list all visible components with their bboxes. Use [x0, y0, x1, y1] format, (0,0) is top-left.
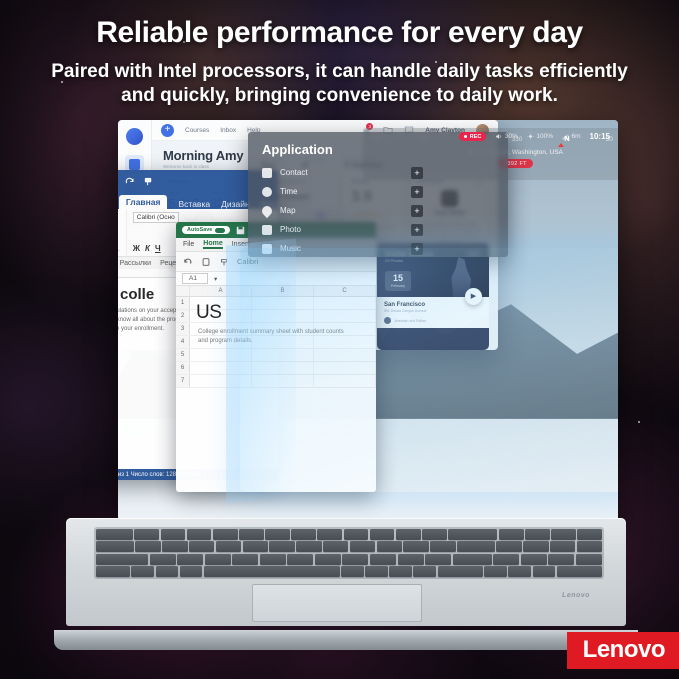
- brightness-value: 100%: [536, 133, 553, 140]
- laptop-base: Lenovo: [48, 518, 644, 650]
- event-date: 15 February: [385, 271, 411, 292]
- word-clipboard-group[interactable]: Вставить Буфер обм...: [118, 209, 127, 256]
- cell[interactable]: [252, 297, 314, 309]
- cell[interactable]: [190, 362, 252, 374]
- guitar-basics-card[interactable]: Guitar Basics 25 Photos Edit 15 February…: [377, 243, 489, 350]
- signal-value: 6m: [572, 133, 581, 140]
- add-button[interactable]: +: [411, 205, 423, 217]
- name-box[interactable]: A1: [182, 273, 208, 284]
- brightness-indicator[interactable]: 100%: [527, 133, 553, 140]
- toggle-switch-icon[interactable]: [215, 228, 225, 233]
- avatar: [384, 317, 391, 324]
- headline-block: Reliable performance for every day Paire…: [0, 16, 679, 109]
- cell[interactable]: [190, 375, 252, 387]
- record-badge: REC: [459, 132, 486, 141]
- app-item-label: Time: [280, 187, 297, 196]
- italic-button[interactable]: К: [145, 244, 150, 253]
- map-pin-icon: [260, 203, 274, 217]
- add-button[interactable]: +: [411, 186, 423, 198]
- cell[interactable]: [314, 349, 376, 361]
- play-button[interactable]: ▶: [465, 288, 482, 305]
- table-row[interactable]: 5: [176, 349, 376, 362]
- app-item-label: Map: [280, 206, 296, 215]
- application-panel[interactable]: Application Contact + Time + Map + Photo…: [248, 132, 508, 257]
- attendee-names: Jeremiah and Esther: [394, 319, 426, 323]
- grid-corner: [176, 286, 190, 296]
- app-item-photo[interactable]: Photo +: [248, 220, 508, 239]
- excel-tab-file[interactable]: File: [183, 241, 194, 248]
- event-address: 891 Delata Canyon Avenue: [384, 309, 482, 313]
- photo-icon: [262, 225, 272, 235]
- add-button[interactable]: +: [411, 224, 423, 236]
- excel-font-name[interactable]: Calibri: [237, 257, 258, 266]
- row-number: 7: [176, 375, 190, 387]
- excel-formula-bar[interactable]: A1 ▾: [176, 272, 376, 286]
- paste-icon[interactable]: [201, 257, 211, 267]
- excel-tab-home[interactable]: Home: [203, 240, 222, 249]
- brightness-icon: [527, 133, 534, 140]
- row-number: 5: [176, 349, 190, 361]
- signal-icon: [562, 133, 569, 140]
- event-month: February: [391, 284, 405, 288]
- cell[interactable]: [252, 349, 314, 361]
- course-subtitle: 25 Photos: [385, 258, 403, 263]
- cell[interactable]: [190, 349, 252, 361]
- app-item-time[interactable]: Time +: [248, 182, 508, 201]
- add-button[interactable]: +: [411, 243, 423, 255]
- column-header[interactable]: B: [252, 286, 314, 296]
- laptop: REC 30% 100% 6m 10:15 20 NW 300 330: [48, 120, 644, 650]
- row-number: 4: [176, 336, 190, 348]
- nav-link-inbox[interactable]: Inbox: [220, 127, 236, 134]
- cell[interactable]: [314, 375, 376, 387]
- column-header[interactable]: A: [190, 286, 252, 296]
- paste-label: Вставить: [118, 235, 120, 242]
- underline-button[interactable]: Ч: [155, 244, 161, 253]
- page-title: Morning Amy: [163, 148, 243, 163]
- word-tab-mailings[interactable]: Рассылки: [120, 260, 151, 267]
- app-item-music[interactable]: Music +: [248, 239, 508, 257]
- record-label: REC: [470, 134, 482, 140]
- spreadsheet-title: US: [196, 302, 221, 324]
- music-note-icon: [262, 244, 272, 254]
- row-number: 3: [176, 323, 190, 335]
- cell[interactable]: [314, 362, 376, 374]
- excel-tab-insert[interactable]: Insert: [232, 241, 250, 248]
- word-tab-insert[interactable]: Вставка: [178, 199, 210, 209]
- bold-button[interactable]: Ж: [133, 244, 140, 253]
- keyboard-row: [96, 566, 602, 577]
- cell[interactable]: [314, 310, 376, 322]
- font-name-input[interactable]: Calibri (Осно: [133, 212, 179, 223]
- excel-column-headers: A B C: [176, 286, 376, 297]
- excel-window[interactable]: AutoSave File Home Insert Draw Calibri A…: [176, 222, 376, 492]
- volume-icon: [495, 133, 502, 140]
- volume-value: 30%: [505, 133, 518, 140]
- contact-icon: [262, 168, 272, 178]
- headline-sub: Paired with Intel processors, it can han…: [0, 60, 679, 109]
- undo-icon[interactable]: [183, 257, 193, 267]
- keyboard[interactable]: [94, 527, 604, 579]
- lenovo-logo: Lenovo: [567, 632, 679, 669]
- cell[interactable]: [252, 362, 314, 374]
- autosave-toggle[interactable]: AutoSave: [182, 226, 230, 234]
- app-item-label: Contact: [280, 168, 308, 177]
- cell[interactable]: [314, 297, 376, 309]
- clock: 10:15: [590, 132, 610, 141]
- app-logo-icon: [126, 128, 143, 145]
- redo-icon[interactable]: [124, 176, 135, 187]
- cell[interactable]: [252, 310, 314, 322]
- laptop-screen: REC 30% 100% 6m 10:15 20 NW 300 330: [118, 120, 618, 535]
- keyboard-row: [96, 529, 602, 540]
- add-button[interactable]: +: [411, 167, 423, 179]
- app-item-label: Photo: [280, 225, 301, 234]
- app-item-contact[interactable]: Contact +: [248, 163, 508, 182]
- spreadsheet-note: College enrollment summary sheet with st…: [198, 328, 348, 346]
- row-number: 1: [176, 297, 190, 309]
- keyboard-row: [96, 554, 602, 565]
- cell[interactable]: [252, 375, 314, 387]
- nav-link-courses[interactable]: Courses: [185, 127, 209, 134]
- status-bar: REC 30% 100% 6m 10:15: [459, 132, 610, 141]
- keyboard-row: [96, 541, 602, 552]
- trackpad[interactable]: [252, 584, 422, 622]
- table-row[interactable]: 7: [176, 375, 376, 388]
- signal-indicator[interactable]: 6m: [562, 133, 581, 140]
- headline-main: Reliable performance for every day: [0, 16, 679, 49]
- deck-brand-logo: Lenovo: [562, 592, 591, 599]
- add-button[interactable]: +: [161, 124, 174, 137]
- row-number: 2: [176, 310, 190, 322]
- volume-indicator[interactable]: 30%: [495, 133, 518, 140]
- event-attendees: Jeremiah and Esther: [384, 317, 482, 324]
- app-item-map[interactable]: Map +: [248, 201, 508, 220]
- page-subtitle: Welcome back to class: [163, 164, 243, 169]
- clock-icon: [262, 187, 272, 197]
- chevron-down-icon[interactable]: ▾: [214, 275, 217, 283]
- app-item-label: Music: [280, 244, 301, 253]
- format-painter-icon[interactable]: [219, 257, 229, 267]
- table-row[interactable]: 6: [176, 362, 376, 375]
- format-painter-icon[interactable]: [143, 176, 154, 187]
- column-header[interactable]: C: [314, 286, 376, 296]
- word-tab-home[interactable]: Главная: [119, 195, 168, 209]
- laptop-front-edge: [54, 630, 638, 650]
- excel-grid[interactable]: A B C 1 2 3 4 5 6 7 US College enrollmen…: [176, 286, 376, 388]
- autosave-label: AutoSave: [187, 227, 212, 233]
- text-style-buttons[interactable]: Ж К Ч: [133, 244, 161, 253]
- row-number: 6: [176, 362, 190, 374]
- save-icon[interactable]: [236, 226, 245, 235]
- clipboard-label: Буфер обм...: [118, 247, 120, 253]
- laptop-deck: Lenovo: [66, 518, 626, 626]
- record-dot-icon: [464, 135, 467, 138]
- word-tab-design[interactable]: Дизайн: [221, 199, 250, 209]
- event-day: 15: [391, 274, 405, 283]
